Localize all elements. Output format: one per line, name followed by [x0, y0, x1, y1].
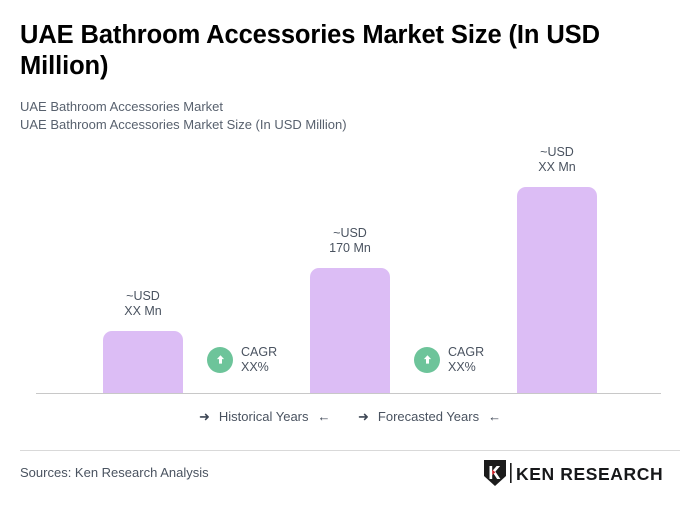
cagr-label-1: CAGR XX% — [241, 345, 277, 374]
axis-captions-row: ➜ Historical Years ← ➜ Forecasted Years … — [0, 409, 700, 429]
footer-divider — [20, 450, 680, 451]
axis-caption-forecasted: ➜ Forecasted Years ← — [358, 409, 501, 424]
cagr-badge-2: CAGR XX% — [414, 345, 484, 374]
arrow-up-icon — [207, 347, 233, 373]
chart-page: UAE Bathroom Accessories Market Size (In… — [0, 0, 700, 520]
bar-value-label-1: ~USD XX Mn — [103, 289, 183, 318]
ken-research-shield-icon — [482, 459, 508, 492]
axis-caption-historical-label: Historical Years — [219, 409, 309, 424]
bar-1[interactable] — [103, 331, 183, 394]
ken-research-logo: KEN RESEARCH — [482, 461, 663, 489]
arrow-left-icon: ← — [488, 410, 501, 423]
logo-wordmark: KEN RESEARCH — [516, 466, 663, 484]
cagr-label-2: CAGR XX% — [448, 345, 484, 374]
bar-value-label-3: ~USD XX Mn — [517, 145, 597, 174]
arrow-left-icon: ← — [318, 410, 331, 423]
axis-caption-forecasted-label: Forecasted Years — [378, 409, 479, 424]
bar-chart-plot: ~USD XX Mn ~USD 170 Mn ~USD XX Mn CAGR X… — [0, 0, 700, 400]
axis-caption-historical: ➜ Historical Years ← — [199, 409, 331, 424]
logo-divider-bar — [508, 462, 514, 489]
sources-text: Sources: Ken Research Analysis — [20, 465, 209, 480]
arrow-up-icon — [414, 347, 440, 373]
bar-3[interactable] — [517, 187, 597, 394]
arrow-right-icon: ➜ — [358, 410, 369, 423]
bar-value-label-2: ~USD 170 Mn — [310, 226, 390, 255]
arrow-right-icon: ➜ — [199, 410, 210, 423]
bar-2[interactable] — [310, 268, 390, 394]
x-axis-line — [36, 393, 661, 394]
cagr-badge-1: CAGR XX% — [207, 345, 277, 374]
